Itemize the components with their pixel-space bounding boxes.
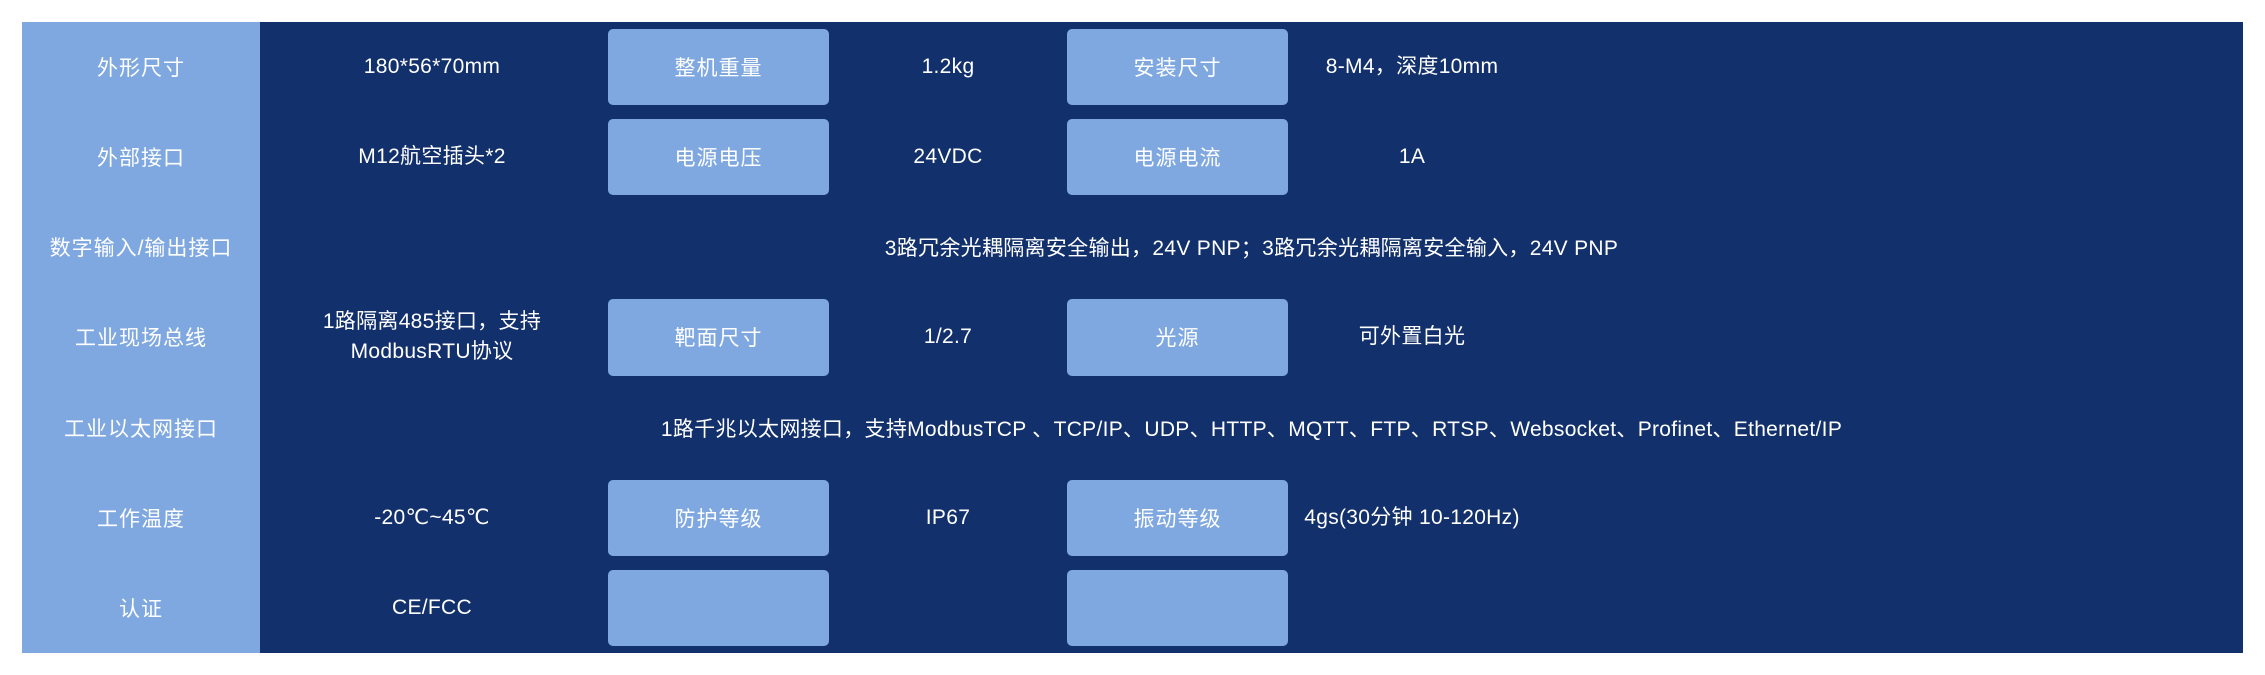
table-row: CE/FCC xyxy=(260,563,2243,653)
spec-chip-cell xyxy=(1063,563,1292,653)
spec-chip-label: 靶面尺寸 xyxy=(608,299,829,375)
spec-chip-cell: 电源电压 xyxy=(604,112,833,202)
table-row: 1路隔离485接口，支持ModbusRTU协议 靶面尺寸 1/2.7 光源 可外… xyxy=(260,292,2243,382)
spec-value-area: 180*56*70mm 整机重量 1.2kg 安装尺寸 8-M4，深度10mm … xyxy=(260,22,2243,653)
spec-row-label: 外部接口 xyxy=(22,112,260,202)
spec-chip-cell: 安装尺寸 xyxy=(1063,22,1292,112)
spec-value: 1/2.7 xyxy=(833,292,1063,382)
spec-value: 可外置白光 xyxy=(1292,292,1532,382)
spec-row-label: 外形尺寸 xyxy=(22,22,260,112)
spec-value: 1A xyxy=(1292,112,1532,202)
spec-value xyxy=(1292,563,1532,653)
spec-value xyxy=(833,563,1063,653)
spec-chip-cell: 振动等级 xyxy=(1063,473,1292,563)
spec-chip-cell: 整机重量 xyxy=(604,22,833,112)
spec-chip-label: 安装尺寸 xyxy=(1067,29,1288,105)
table-row: 180*56*70mm 整机重量 1.2kg 安装尺寸 8-M4，深度10mm xyxy=(260,22,2243,112)
spec-value: 1.2kg xyxy=(833,22,1063,112)
spec-chip-label xyxy=(608,570,829,646)
spec-chip-cell: 防护等级 xyxy=(604,473,833,563)
spec-chip-label: 光源 xyxy=(1067,299,1288,375)
spec-value: 1路隔离485接口，支持ModbusRTU协议 xyxy=(260,292,604,382)
spec-chip-cell: 电源电流 xyxy=(1063,112,1292,202)
spec-row-label: 认证 xyxy=(22,563,260,653)
spec-chip-cell xyxy=(604,563,833,653)
spec-value: 4gs(30分钟 10-120Hz) xyxy=(1292,473,1532,563)
table-row: 1路千兆以太网接口，支持ModbusTCP 、TCP/IP、UDP、HTTP、M… xyxy=(260,383,2243,473)
spec-chip-label: 防护等级 xyxy=(608,480,829,556)
spec-value-span: 1路千兆以太网接口，支持ModbusTCP 、TCP/IP、UDP、HTTP、M… xyxy=(260,383,2243,473)
spec-value: CE/FCC xyxy=(260,563,604,653)
spec-value-span: 3路冗余光耦隔离安全输出，24V PNP；3路冗余光耦隔离安全输入，24V PN… xyxy=(260,202,2243,292)
spec-row-label: 工业现场总线 xyxy=(22,292,260,382)
table-row: M12航空插头*2 电源电压 24VDC 电源电流 1A xyxy=(260,112,2243,202)
spec-value: 180*56*70mm xyxy=(260,22,604,112)
spec-row-label: 数字输入/输出接口 xyxy=(22,202,260,292)
spec-value: IP67 xyxy=(833,473,1063,563)
spec-chip-cell: 靶面尺寸 xyxy=(604,292,833,382)
spec-label-column: 外形尺寸 外部接口 数字输入/输出接口 工业现场总线 工业以太网接口 工作温度 … xyxy=(22,22,260,653)
spec-value: M12航空插头*2 xyxy=(260,112,604,202)
table-row: -20℃~45℃ 防护等级 IP67 振动等级 4gs(30分钟 10-120H… xyxy=(260,473,2243,563)
spec-chip-label: 电源电压 xyxy=(608,119,829,195)
spec-chip-label: 振动等级 xyxy=(1067,480,1288,556)
spec-value: 8-M4，深度10mm xyxy=(1292,22,1532,112)
spec-value: 24VDC xyxy=(833,112,1063,202)
spec-chip-cell: 光源 xyxy=(1063,292,1292,382)
spec-chip-label xyxy=(1067,570,1288,646)
table-row: 3路冗余光耦隔离安全输出，24V PNP；3路冗余光耦隔离安全输入，24V PN… xyxy=(260,202,2243,292)
spec-value: -20℃~45℃ xyxy=(260,473,604,563)
spec-row-label: 工业以太网接口 xyxy=(22,383,260,473)
spec-chip-label: 电源电流 xyxy=(1067,119,1288,195)
specification-table: 外形尺寸 外部接口 数字输入/输出接口 工业现场总线 工业以太网接口 工作温度 … xyxy=(22,22,2243,653)
spec-row-label: 工作温度 xyxy=(22,473,260,563)
spec-chip-label: 整机重量 xyxy=(608,29,829,105)
